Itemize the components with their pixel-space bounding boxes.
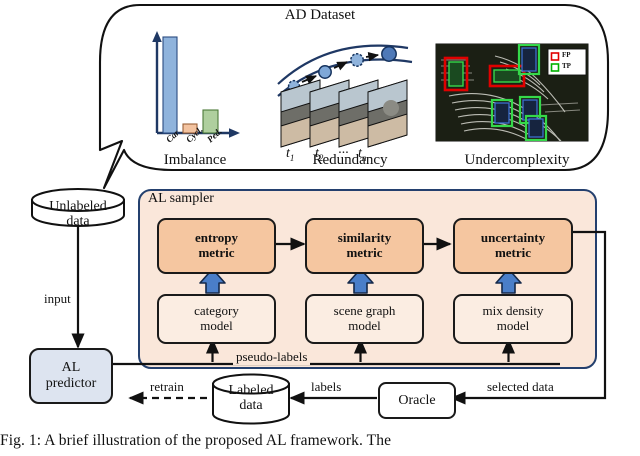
legend-label-tp: TP [562, 62, 571, 70]
metric-box-similarity[interactable]: similaritymetric [305, 218, 424, 274]
oracle-box[interactable]: Oracle [378, 382, 456, 419]
model-category-label: categorymodel [194, 304, 239, 333]
model-box-category[interactable]: categorymodel [157, 294, 276, 344]
unlabeled-data-label: Unlabeleddata [32, 200, 124, 229]
subpanel-caption-undercomplexity: Undercomplexity [442, 153, 592, 169]
figure-root: AD Dataset Car Cycl. Ped. t1 t2 ··· tn F… [0, 0, 640, 456]
labeled-data-label: Labeleddata [213, 384, 289, 413]
edge-label-retrain: retrain [148, 379, 186, 395]
model-box-mix-density[interactable]: mix densitymodel [453, 294, 573, 344]
metric-box-entropy[interactable]: entropymetric [157, 218, 276, 274]
metric-box-uncertainty[interactable]: uncertaintymetric [453, 218, 573, 274]
metric-uncertainty-label: uncertaintymetric [481, 231, 545, 260]
model-box-scene-graph[interactable]: scene graphmodel [305, 294, 424, 344]
edge-label-input: input [44, 291, 71, 307]
model-mix-density-label: mix densitymodel [482, 304, 543, 333]
model-scene-graph-label: scene graphmodel [334, 304, 396, 333]
subpanel-caption-imbalance: Imbalance [140, 153, 250, 169]
ad-dataset-title: AD Dataset [0, 8, 640, 24]
subpanel-caption-redundancy: Redundancy [290, 153, 410, 169]
al-predictor-label: ALpredictor [46, 360, 97, 392]
figure-caption: Fig. 1: A brief illustration of the prop… [0, 432, 640, 450]
metric-entropy-label: entropymetric [195, 231, 238, 260]
al-sampler-title: AL sampler [148, 192, 214, 207]
al-predictor-box[interactable]: ALpredictor [29, 348, 113, 404]
edge-label-selected-data: selected data [485, 379, 556, 395]
oracle-label: Oracle [398, 393, 435, 409]
legend-label-fp: FP [562, 51, 571, 59]
edge-label-pseudo-labels: pseudo-labels [233, 349, 310, 365]
edge-label-labels: labels [309, 379, 343, 395]
metric-similarity-label: similaritymetric [338, 231, 391, 260]
